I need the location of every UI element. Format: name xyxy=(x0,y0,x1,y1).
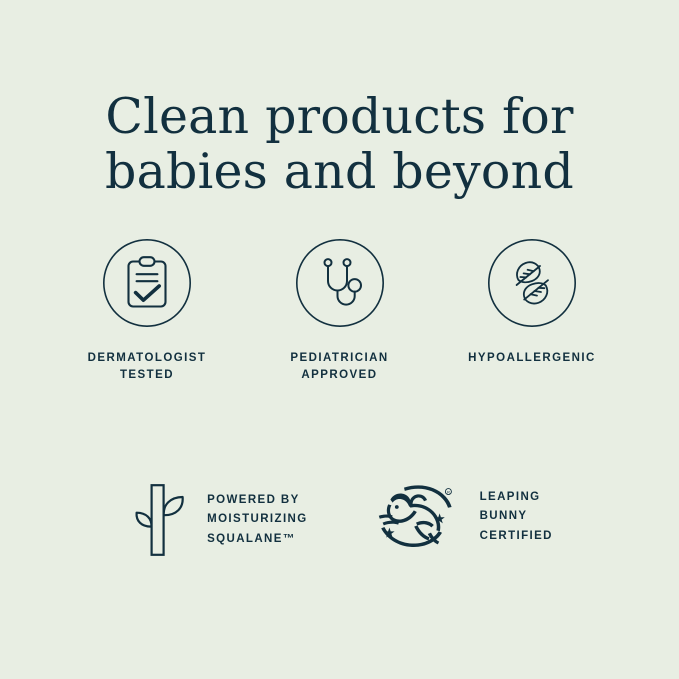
clipboard-check-icon xyxy=(102,238,192,328)
lockup-line-3: CERTIFIED xyxy=(480,527,553,547)
badge-label-pediatrician-approved: PEDIATRICIAN APPROVED xyxy=(290,350,388,384)
badge-label-line-1: HYPOALLERGENIC xyxy=(468,350,596,367)
lockup-leaping-bunny: R LEAPING BUNNY CERTIFIED xyxy=(370,482,553,552)
lockup-line-3: SQUALANE™ xyxy=(207,530,308,550)
badge-label-line-2: TESTED xyxy=(88,367,207,384)
badge-pediatrician-approved: PEDIATRICIAN APPROVED xyxy=(244,238,436,384)
page-title: Clean products for babies and beyond xyxy=(0,89,679,199)
svg-text:R: R xyxy=(447,490,450,495)
lockup-line-2: BUNNY xyxy=(480,507,553,527)
leaping-bunny-icon: R xyxy=(370,482,466,552)
badge-label-line-1: PEDIATRICIAN xyxy=(290,350,388,367)
badge-hypoallergenic: HYPOALLERGENIC xyxy=(436,238,628,367)
lockup-line-1: POWERED BY xyxy=(207,491,308,511)
badge-label-line-1: DERMATOLOGIST xyxy=(88,350,207,367)
badge-label-dermatologist-tested: DERMATOLOGIST TESTED xyxy=(88,350,207,384)
certification-lockup-row: POWERED BY MOISTURIZING SQUALANE™ xyxy=(0,482,679,558)
feathers-icon xyxy=(487,238,577,328)
badge-dermatologist-tested: DERMATOLOGIST TESTED xyxy=(51,238,243,384)
badge-row: DERMATOLOGIST TESTED PEDIATRICIAN APPROV… xyxy=(51,238,628,384)
page-title-line-1: Clean products for xyxy=(0,89,679,144)
plant-sprout-icon xyxy=(126,482,190,558)
lockup-powered-by-squalane: POWERED BY MOISTURIZING SQUALANE™ xyxy=(126,482,308,558)
stethoscope-icon xyxy=(295,238,385,328)
badge-label-hypoallergenic: HYPOALLERGENIC xyxy=(468,350,596,367)
lockup-line-1: LEAPING xyxy=(480,488,553,508)
lockup-line-2: MOISTURIZING xyxy=(207,510,308,530)
lockup-text-leaping-bunny: LEAPING BUNNY CERTIFIED xyxy=(480,488,553,547)
page-title-line-2: babies and beyond xyxy=(0,144,679,199)
badge-label-line-2: APPROVED xyxy=(290,367,388,384)
lockup-text-squalane: POWERED BY MOISTURIZING SQUALANE™ xyxy=(207,491,308,550)
marketing-benefits-panel: Clean products for babies and beyond DER… xyxy=(0,0,679,679)
